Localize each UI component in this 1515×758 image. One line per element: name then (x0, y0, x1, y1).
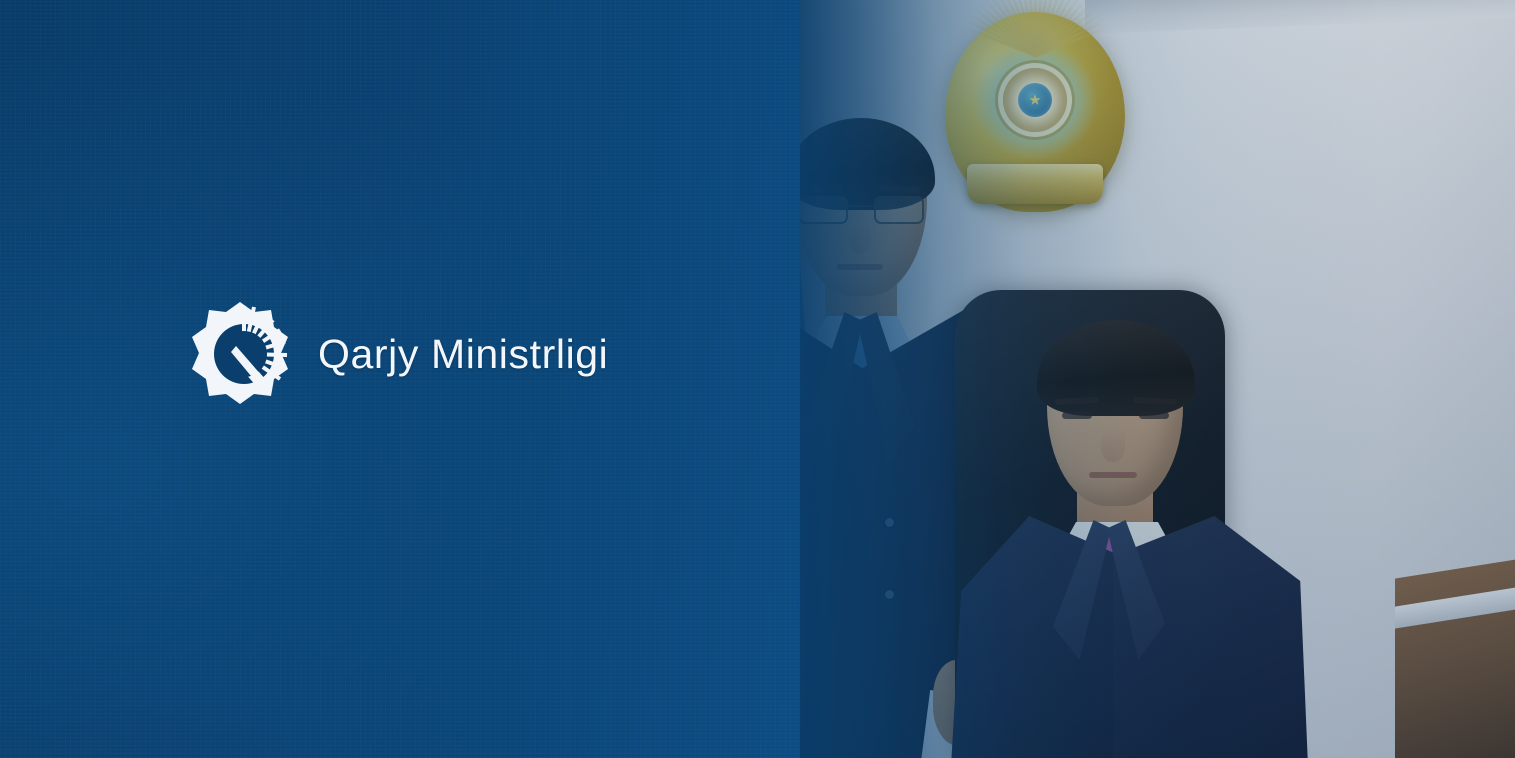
brand-lockup: Qarjy Ministrligi (188, 300, 608, 408)
mouth (837, 264, 883, 270)
glasses-lens-right (874, 196, 924, 224)
brand-name-label: Qarjy Ministrligi (318, 331, 608, 378)
eye-right (1139, 412, 1169, 419)
nose (1101, 428, 1125, 462)
hero-banner: Qarjy Ministrligi (0, 0, 1515, 758)
glasses-bridge (846, 205, 876, 207)
jacket-button-lower (885, 590, 894, 599)
mouth (1089, 472, 1137, 478)
eye-left (1062, 412, 1092, 419)
glasses-icon (795, 196, 927, 222)
jacket-button-upper (885, 518, 894, 527)
office-desk (1395, 558, 1515, 758)
glasses-lens-left (798, 196, 848, 224)
ministry-logo-icon (188, 300, 292, 408)
seated-official (973, 320, 1303, 758)
nose (849, 224, 871, 254)
